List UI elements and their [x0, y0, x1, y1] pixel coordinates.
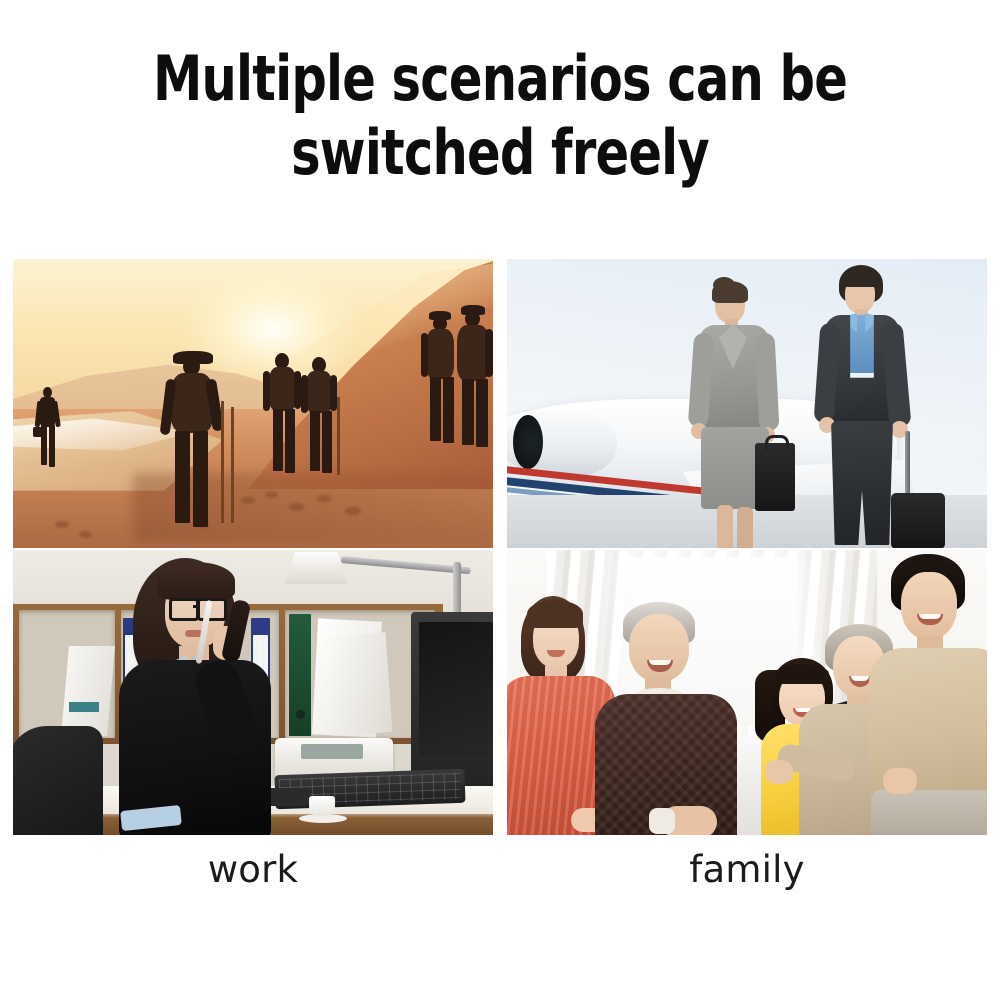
scenario-card-business-trips[interactable]: Business trips — [507, 259, 987, 548]
office-worker — [109, 556, 299, 835]
family-member-son — [877, 554, 987, 835]
page-title-line-1: Multiple scenarios can be — [100, 42, 900, 116]
scenario-caption-work: work — [13, 835, 493, 905]
scenario-caption-family: family — [507, 835, 987, 905]
shelf-paper-teal-tab — [69, 702, 99, 712]
leg-right — [737, 507, 753, 548]
desk-lamp-post — [453, 562, 461, 614]
work-photo — [13, 550, 493, 835]
page-title-line-2: switched freely — [100, 116, 900, 190]
travel-hiker-1 — [35, 387, 61, 497]
family-member-grandfather — [603, 602, 733, 835]
briefcase — [755, 443, 795, 511]
shelf-papers-left — [61, 646, 115, 736]
hair-front — [841, 269, 881, 287]
travel-hiker-6 — [451, 305, 493, 451]
travel-footprint — [289, 503, 304, 511]
phone-display — [301, 744, 363, 759]
hair-front — [527, 600, 583, 628]
head — [901, 572, 957, 640]
scenario-card-family[interactable]: family — [507, 550, 987, 839]
shelf-papers-right — [328, 632, 393, 736]
travel-footprint — [265, 491, 278, 498]
travel-footprint — [317, 495, 331, 502]
eyeglasses-bridge — [193, 605, 199, 608]
leg-left — [717, 505, 733, 548]
jet-engine-intake — [513, 415, 543, 469]
office-chair — [13, 726, 103, 835]
monitor-screen — [419, 622, 493, 756]
travel-footprint — [55, 521, 69, 528]
page-title: Multiple scenarios can be switched freel… — [0, 42, 1000, 190]
hand — [883, 768, 917, 794]
dark-trousers — [831, 421, 893, 545]
travel-photo — [13, 259, 493, 548]
hair-front — [157, 562, 235, 600]
teeth — [851, 676, 869, 681]
scenario-card-travel[interactable]: travel — [13, 259, 493, 548]
scenario-grid: travel — [13, 259, 987, 979]
roller-bag-handle — [905, 431, 910, 497]
travel-footprint — [345, 507, 361, 515]
hair — [712, 281, 748, 303]
travel-hiker-3 — [263, 353, 305, 483]
roller-bag — [891, 493, 945, 548]
trousers — [871, 790, 987, 835]
coffee-cup — [309, 796, 335, 816]
teeth — [919, 614, 941, 619]
family-photo — [507, 550, 987, 835]
office-monitor — [411, 612, 493, 792]
travel-hiker-2 — [161, 345, 225, 535]
arm-right — [754, 333, 779, 432]
travel-footprint — [241, 497, 255, 504]
businesswoman-grey-suit — [685, 277, 805, 548]
travel-hiker-4 — [301, 357, 343, 483]
business-trips-photo — [507, 259, 987, 548]
briefcase-handle — [765, 435, 789, 450]
teeth — [649, 660, 671, 665]
hand-on-shoulder — [765, 760, 793, 784]
eyeglasses-left-lens — [169, 598, 199, 621]
travel-footprint — [79, 531, 92, 538]
shirt-cuff — [649, 808, 675, 834]
scenario-card-work[interactable]: work — [13, 550, 493, 839]
businesswoman-dark-suit — [817, 265, 947, 548]
